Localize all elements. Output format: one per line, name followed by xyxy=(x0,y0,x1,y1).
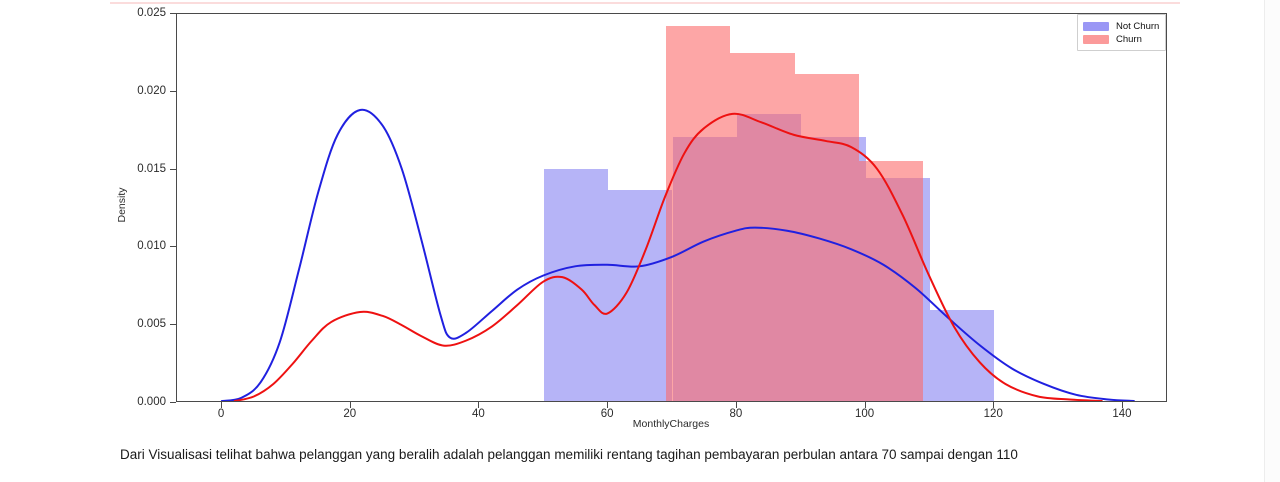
y-tick-mark xyxy=(170,402,176,403)
legend-item-not-churn: Not Churn xyxy=(1083,20,1159,32)
y-axis-label: Density xyxy=(116,187,128,222)
figure-caption: Dari Visualisasi telihat bahwa pelanggan… xyxy=(120,447,1018,462)
x-tick-mark xyxy=(350,402,351,408)
plot-area xyxy=(176,13,1167,402)
kde-curves-layer xyxy=(177,14,1166,401)
x-tick-mark xyxy=(607,402,608,408)
x-tick-label: 20 xyxy=(343,408,356,420)
x-tick-label: 140 xyxy=(1112,408,1131,420)
x-tick-label: 40 xyxy=(472,408,485,420)
legend-label-churn: Churn xyxy=(1116,34,1142,45)
x-tick-mark xyxy=(1122,402,1123,408)
x-tick-mark xyxy=(993,402,994,408)
legend-item-churn: Churn xyxy=(1083,33,1159,45)
legend-swatch-not-churn xyxy=(1083,22,1109,31)
x-tick-mark xyxy=(478,402,479,408)
kde-curve-not-churn xyxy=(222,110,1134,401)
kde-histogram-figure: 0.0000.0050.0100.0150.0200.025 Density 0… xyxy=(0,0,1280,440)
y-tick-label: 0.025 xyxy=(137,7,166,19)
legend-label-not-churn: Not Churn xyxy=(1116,21,1159,32)
x-tick-label: 120 xyxy=(984,408,1003,420)
x-tick-mark xyxy=(221,402,222,408)
x-tick-label: 60 xyxy=(601,408,614,420)
x-tick-label: 100 xyxy=(855,408,874,420)
x-tick-mark xyxy=(865,402,866,408)
figure-page: 0.0000.0050.0100.0150.0200.025 Density 0… xyxy=(0,0,1280,482)
x-tick-mark xyxy=(736,402,737,408)
y-tick-label: 0.015 xyxy=(137,163,166,175)
legend-swatch-churn xyxy=(1083,35,1109,44)
chart-legend[interactable]: Not Churn Churn xyxy=(1077,14,1166,51)
x-axis-label: MonthlyCharges xyxy=(633,418,709,430)
y-tick-label: 0.010 xyxy=(137,240,166,252)
y-tick-label: 0.000 xyxy=(137,396,166,408)
y-tick-label: 0.005 xyxy=(137,318,166,330)
x-tick-label: 0 xyxy=(218,408,224,420)
x-tick-label: 80 xyxy=(729,408,742,420)
y-tick-label: 0.020 xyxy=(137,85,166,97)
